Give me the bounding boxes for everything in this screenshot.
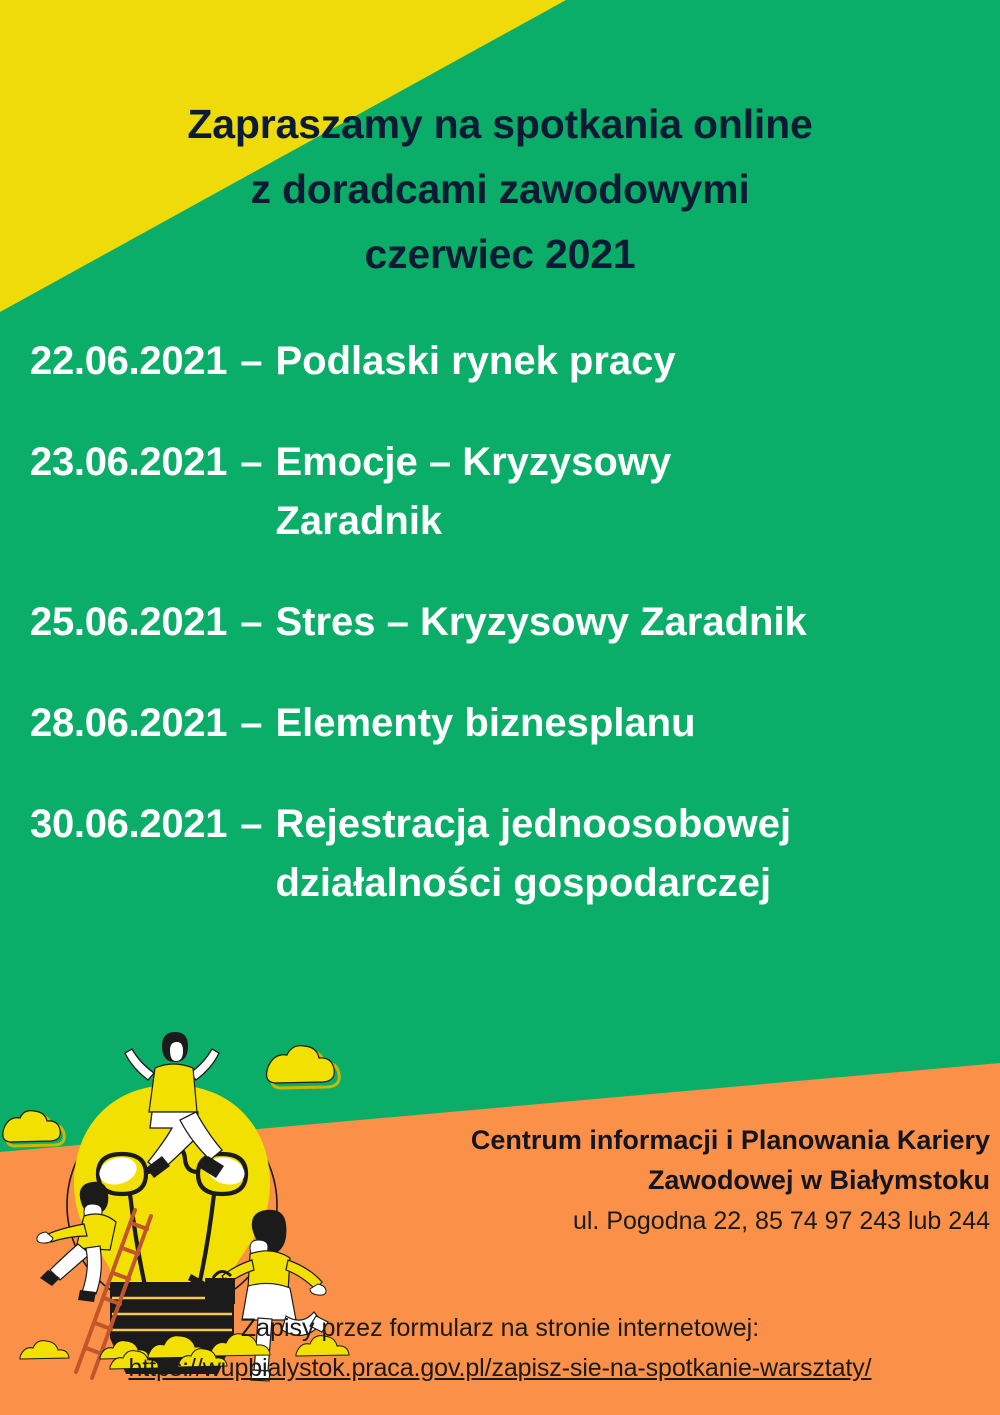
organisation-address: ul. Pogodna 22, 85 74 97 243 lub 244 (330, 1202, 990, 1240)
cloud-icon (267, 1046, 340, 1088)
schedule-item-separator: – (227, 433, 275, 492)
schedule-item-date: 25.06.2021 (30, 593, 227, 652)
schedule-item-title: Emocje – Kryzysowy Zaradnik (275, 433, 671, 551)
schedule-item: 30.06.2021 – Rejestracja jednoosobowej d… (30, 795, 970, 913)
signup-label: Zapisy przez formularz na stronie intern… (0, 1308, 1000, 1348)
schedule-item-title: Podlaski rynek pracy (275, 332, 675, 391)
title-line-3: czerwiec 2021 (0, 222, 1000, 287)
schedule-item-separator: – (227, 694, 275, 753)
footer-contact-block: Centrum informacji i Planowania Kariery … (330, 1120, 990, 1240)
schedule-item-separator: – (227, 795, 275, 854)
schedule-item-date: 30.06.2021 (30, 795, 227, 854)
cloud-icon (3, 1111, 64, 1146)
schedule-item-separator: – (227, 332, 275, 391)
schedule-item-date: 23.06.2021 (30, 433, 227, 492)
schedule-item: 22.06.2021 – Podlaski rynek pracy (30, 332, 970, 391)
schedule-item-title: Elementy biznesplanu (275, 694, 695, 753)
schedule-item: 25.06.2021 – Stres – Kryzysowy Zaradnik (30, 593, 970, 652)
page-title: Zapraszamy na spotkania online z doradca… (0, 92, 1000, 287)
schedule-item: 28.06.2021 – Elementy biznesplanu (30, 694, 970, 753)
schedule-item: 23.06.2021 – Emocje – Kryzysowy Zaradnik (30, 433, 970, 551)
schedule-item-date: 22.06.2021 (30, 332, 227, 391)
schedule-item-separator: – (227, 593, 275, 652)
poster-canvas: Zapraszamy na spotkania online z doradca… (0, 0, 1000, 1415)
signup-url-link[interactable]: https://wupbialystok.praca.gov.pl/zapisz… (0, 1348, 1000, 1388)
schedule-item-title: Rejestracja jednoosobowej działalności g… (275, 795, 791, 913)
title-line-2: z doradcami zawodowymi (0, 157, 1000, 222)
schedule-list: 22.06.2021 – Podlaski rynek pracy 23.06.… (30, 332, 970, 955)
organisation-name-line-2: Zawodowej w Białymstoku (330, 1160, 990, 1200)
schedule-item-title: Stres – Kryzysowy Zaradnik (275, 593, 806, 652)
organisation-name-line-1: Centrum informacji i Planowania Kariery (330, 1120, 990, 1160)
signup-block: Zapisy przez formularz na stronie intern… (0, 1308, 1000, 1388)
schedule-item-date: 28.06.2021 (30, 694, 227, 753)
title-line-1: Zapraszamy na spotkania online (0, 92, 1000, 157)
